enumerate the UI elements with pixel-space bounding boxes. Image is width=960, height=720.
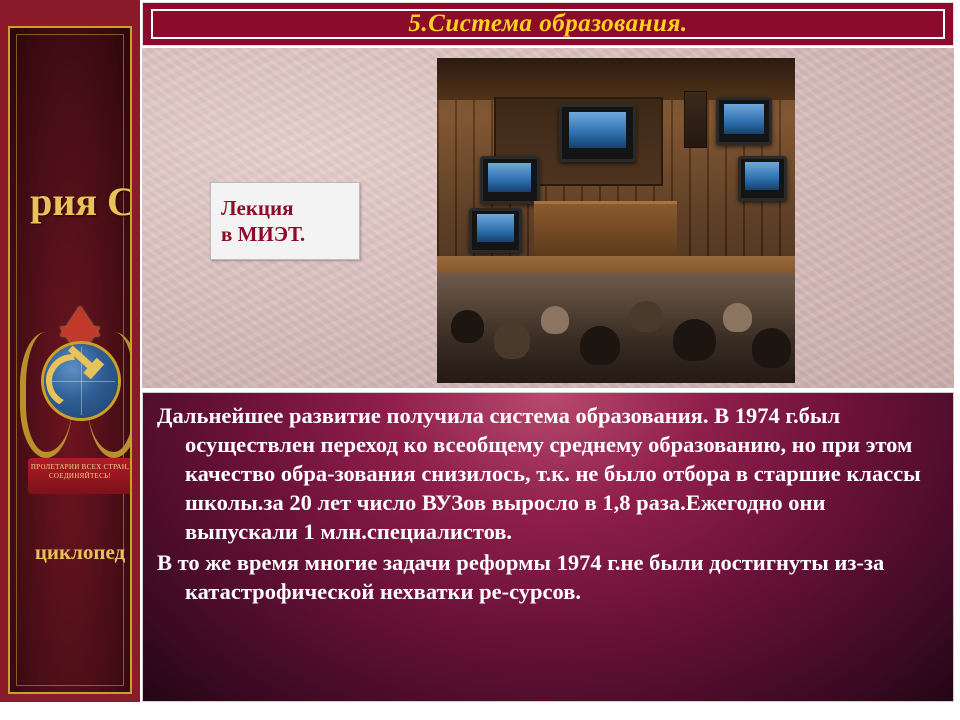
page-title: 5.Система образования.: [153, 10, 943, 38]
photo-monitor: [716, 97, 772, 145]
emblem-ribbon: ПРОЛЕТАРИИ ВСЕХ СТРАН, СОЕДИНЯЙТЕСЬ!: [28, 458, 132, 494]
picture-area: Лекция в МИЭТ.: [142, 48, 954, 388]
body-paragraph-1: Дальнейшее развитие получила система обр…: [143, 401, 953, 546]
photo-speaker-box: [684, 91, 707, 148]
photo-audience: [437, 273, 795, 384]
photo-person: [451, 310, 483, 343]
lecture-callout-label: Лекция в МИЭТ.: [221, 195, 305, 247]
bottom-white-strip: [0, 702, 960, 720]
photo-ceiling: [437, 58, 795, 100]
book-cover-subtitle: циклопед: [8, 540, 132, 565]
photo-monitor: [738, 156, 787, 201]
photo-person: [630, 301, 662, 332]
photo-person: [494, 321, 530, 359]
photo-monitor: [559, 104, 637, 162]
soviet-emblem-icon: ПРОЛЕТАРИИ ВСЕХ СТРАН, СОЕДИНЯЙТЕСЬ!: [14, 280, 132, 530]
photo-person: [541, 306, 570, 335]
body-text-block: Дальнейшее развитие получила система обр…: [142, 392, 954, 702]
slide-title-bar: 5.Система образования.: [142, 2, 954, 46]
slide-body: 5.Система образования. Лекция в МИЭТ.: [140, 0, 960, 720]
slide-root: рия С ПРОЛЕТАРИИ ВСЕХ СТРАН, СОЕДИНЯЙТЕС…: [0, 0, 960, 720]
book-cover-title: рия С: [8, 178, 132, 225]
slide-title-frame: 5.Система образования.: [151, 9, 945, 39]
photo-monitor: [480, 156, 540, 204]
photo-person: [723, 303, 752, 332]
book-cover-image: рия С ПРОЛЕТАРИИ ВСЕХ СТРАН, СОЕДИНЯЙТЕС…: [8, 26, 132, 694]
photo-podium: [534, 201, 677, 259]
photo-person: [673, 319, 716, 361]
red-star-icon: [60, 306, 100, 336]
body-paragraph-2: В то же время многие задачи реформы 1974…: [143, 548, 953, 606]
body-paragraph-1-text: Дальнейшее развитие получила система обр…: [157, 401, 939, 546]
photo-person: [580, 326, 619, 366]
lecture-hall-photo: [437, 58, 795, 383]
lecture-callout: Лекция в МИЭТ.: [210, 182, 360, 260]
left-decorative-strip: рия С ПРОЛЕТАРИИ ВСЕХ СТРАН, СОЕДИНЯЙТЕС…: [0, 0, 140, 720]
body-paragraph-2-text: В то же время многие задачи реформы 1974…: [157, 548, 939, 606]
photo-monitor: [469, 208, 522, 253]
photo-person: [752, 328, 791, 368]
